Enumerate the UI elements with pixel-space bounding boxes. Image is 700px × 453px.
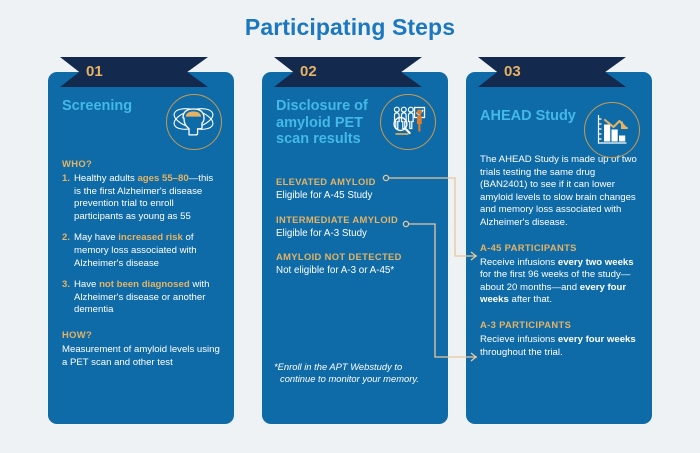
infographic-stage: Participating Steps 01 Screening WHO? [0, 0, 700, 453]
step-number-ribbon-01: 01 [60, 57, 208, 87]
txt-seg: Recieve infusions [480, 334, 558, 345]
step-card-disclosure: 02 Disclosure of amyloid PET scan result… [262, 72, 448, 424]
list-item: 1.Healthy adults ages 55–80—this is the … [62, 173, 220, 223]
txt-seg: after that. [509, 294, 552, 305]
list-lead: May have [74, 232, 118, 243]
step-card-ahead-study: 03 AHEAD Study [466, 72, 652, 424]
card-heading-screening: Screening [62, 96, 174, 115]
section-label-who: WHO? [62, 158, 220, 169]
participants-text: Receive infusions every two weeks for th… [480, 257, 638, 307]
card-heading-disclosure: Disclosure of amyloid PET scan results [276, 96, 380, 148]
declining-bar-chart-icon [584, 102, 640, 158]
ahead-intro-text: The AHEAD Study is made up of two trials… [480, 154, 638, 230]
list-number: 1. [62, 173, 70, 186]
list-bold: increased risk [118, 232, 183, 243]
step-card-screening: 01 Screening WHO? 1.Healthy adult [48, 72, 234, 424]
participants-text: Recieve infusions every four weeks throu… [480, 334, 638, 359]
page-title: Participating Steps [0, 14, 700, 41]
result-value: Eligible for A-45 Study [276, 190, 434, 203]
result-elevated: ELEVATED AMYLOID Eligible for A-45 Study [276, 176, 434, 203]
card-heading-ahead-study: AHEAD Study [480, 96, 592, 125]
list-number: 3. [62, 279, 70, 292]
participants-label: A-3 PARTICIPANTS [480, 319, 638, 330]
txt-seg: Receive infusions [480, 257, 558, 268]
list-item: 3.Have not been diagnosed with Alzheimer… [62, 279, 220, 317]
result-value: Not eligible for A-3 or A-45* [276, 265, 434, 278]
list-lead: Have [74, 279, 99, 290]
result-value: Eligible for A-3 Study [276, 228, 434, 241]
list-bold: not been diagnosed [99, 279, 190, 290]
list-item: 2.May have increased risk of memory loss… [62, 232, 220, 270]
people-magnifier-checkbox-icon [380, 94, 436, 150]
txt-bold: every two weeks [558, 257, 634, 268]
step-number-ribbon-03: 03 [478, 57, 626, 87]
participants-a3: A-3 PARTICIPANTS Recieve infusions every… [480, 319, 638, 359]
result-label: ELEVATED AMYLOID [276, 176, 434, 187]
footnote-apt-webstudy: *Enroll in the APT Webstudy to continue … [280, 361, 434, 386]
result-label: AMYLOID NOT DETECTED [276, 251, 434, 262]
how-text: Measurement of amyloid levels using a PE… [62, 344, 220, 369]
txt-bold: every four weeks [558, 334, 636, 345]
section-label-how: HOW? [62, 329, 220, 340]
who-list: 1.Healthy adults ages 55–80—this is the … [62, 173, 220, 317]
list-bold: ages 55–80 [137, 173, 188, 184]
participants-a45: A-45 PARTICIPANTS Receive infusions ever… [480, 242, 638, 307]
head-brain-icon [166, 94, 222, 150]
list-number: 2. [62, 232, 70, 245]
result-not-detected: AMYLOID NOT DETECTED Not eligible for A-… [276, 251, 434, 278]
result-label: INTERMEDIATE AMYLOID [276, 214, 434, 225]
participants-label: A-45 PARTICIPANTS [480, 242, 638, 253]
list-lead: Healthy adults [74, 173, 137, 184]
result-intermediate: INTERMEDIATE AMYLOID Eligible for A-3 St… [276, 214, 434, 241]
step-number-ribbon-02: 02 [274, 57, 422, 87]
txt-seg: throughout the trial. [480, 347, 563, 358]
